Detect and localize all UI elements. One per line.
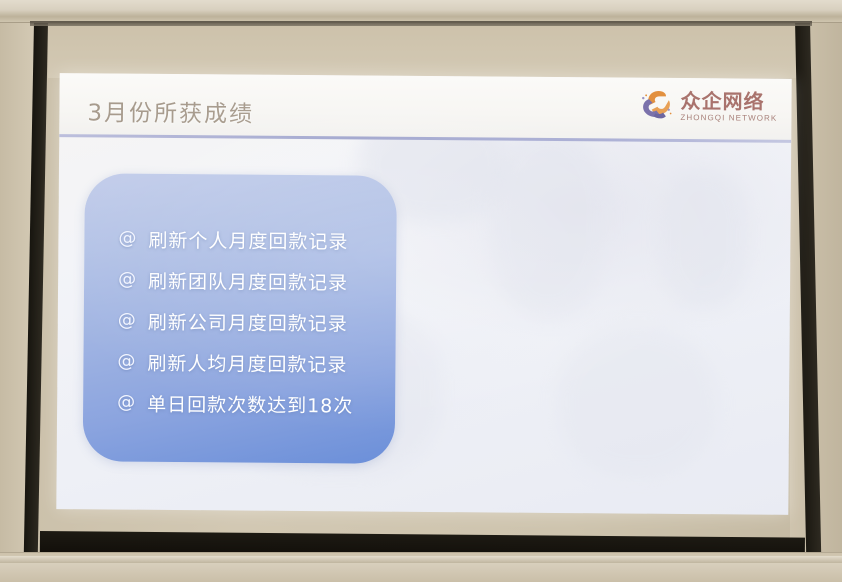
list-item-label: 单日回款次数达到18次 — [147, 389, 353, 418]
rail-shadow — [30, 21, 812, 26]
logo-name-cn: 众企网络 — [680, 91, 777, 112]
slide-title: 3月份所获成绩 — [87, 93, 254, 128]
zhongqi-swirl-logo-icon — [637, 88, 675, 124]
company-logo: 众企网络 ZHONGQI NETWORK — [637, 88, 777, 125]
background-ghost-shape — [658, 168, 749, 309]
list-item: @ 单日回款次数达到18次 — [83, 389, 395, 418]
logo-wordmark: 众企网络 ZHONGQI NETWORK — [680, 91, 777, 123]
list-item: @ 刷新个人月度回款记录 — [84, 225, 396, 254]
achievements-content-box: @ 刷新个人月度回款记录 @ 刷新团队月度回款记录 @ 刷新公司月度回款记录 @… — [83, 173, 397, 463]
background-ghost-shape — [557, 327, 718, 478]
list-item: @ 刷新公司月度回款记录 — [84, 307, 396, 336]
at-bullet-icon: @ — [117, 353, 135, 371]
at-bullet-icon: @ — [118, 271, 136, 289]
list-item-label: 刷新公司月度回款记录 — [148, 307, 348, 336]
at-bullet-icon: @ — [117, 394, 135, 412]
list-item: @ 刷新人均月度回款记录 — [83, 348, 395, 377]
ceiling-rail — [0, 0, 842, 23]
at-bullet-icon: @ — [118, 230, 136, 248]
at-bullet-icon: @ — [118, 312, 136, 330]
achievements-list: @ 刷新个人月度回款记录 @ 刷新团队月度回款记录 @ 刷新公司月度回款记录 @… — [83, 173, 397, 463]
screen-fabric-top-band — [48, 26, 796, 78]
projected-slide: 3月份所获成绩 众企网络 ZHONGQ — [56, 73, 791, 515]
projection-screen-photo: 3月份所获成绩 众企网络 ZHONGQ — [0, 0, 842, 582]
list-item: @ 刷新团队月度回款记录 — [84, 266, 396, 295]
slide-header: 3月份所获成绩 众企网络 ZHONGQ — [59, 73, 791, 141]
baseboard-trim — [0, 556, 842, 563]
list-item-label: 刷新人均月度回款记录 — [147, 348, 347, 377]
list-item-label: 刷新个人月度回款记录 — [148, 225, 348, 254]
background-ghost-shape — [488, 127, 609, 318]
logo-name-en: ZHONGQI NETWORK — [680, 114, 777, 123]
list-item-label: 刷新团队月度回款记录 — [148, 266, 348, 295]
